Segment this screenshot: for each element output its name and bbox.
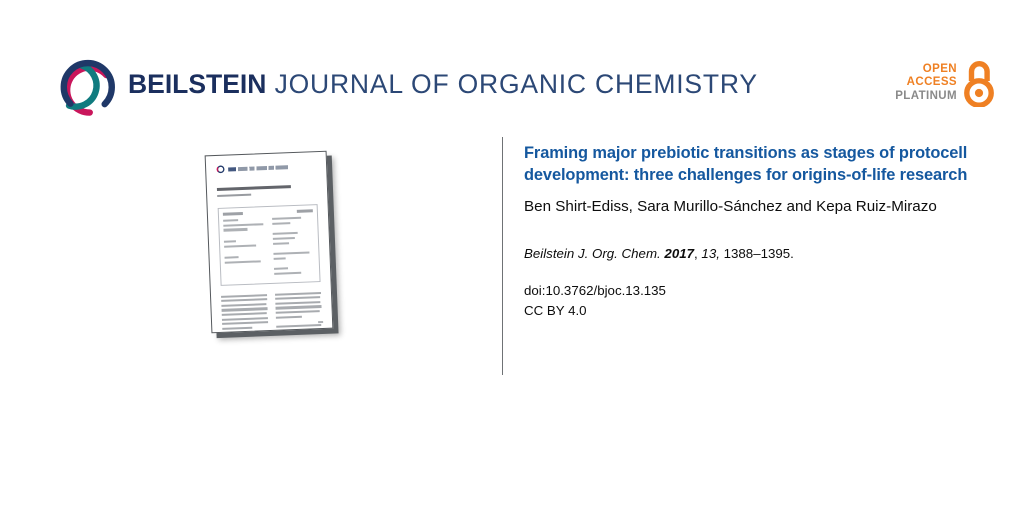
beilstein-circle-logo[interactable] xyxy=(55,58,117,120)
article-authors: Ben Shirt-Ediss, Sara Murillo-Sánchez an… xyxy=(524,196,984,218)
open-access-badge[interactable]: OPEN ACCESS PLATINUM xyxy=(895,59,996,107)
column-divider xyxy=(502,137,503,375)
oa-line-platinum: PLATINUM xyxy=(895,90,957,104)
preview-author-line xyxy=(217,194,251,198)
preview-body-columns xyxy=(221,292,325,334)
preview-column-right xyxy=(274,292,325,334)
journal-masthead: BEILSTEIN JOURNAL OF ORGANIC CHEMISTRY O… xyxy=(0,0,1024,135)
article-title[interactable]: Framing major prebiotic transitions as s… xyxy=(524,143,972,187)
citation-pages: 1388–1395. xyxy=(720,246,794,261)
article-metadata: Framing major prebiotic transitions as s… xyxy=(524,143,984,322)
preview-info-box xyxy=(218,205,321,286)
oa-line-open: OPEN xyxy=(895,63,957,77)
open-access-label: OPEN ACCESS PLATINUM xyxy=(895,63,957,104)
citation-volume: 13, xyxy=(701,246,720,261)
wordmark-subtitle: JOURNAL OF ORGANIC CHEMISTRY xyxy=(266,69,757,99)
preview-masthead xyxy=(216,161,316,174)
wordmark-beilstein: BEILSTEIN xyxy=(128,69,266,99)
preview-logo-icon xyxy=(216,165,225,174)
preview-column-left xyxy=(221,294,272,333)
preview-title-line xyxy=(217,185,291,191)
article-license[interactable]: CC BY 4.0 xyxy=(524,301,984,322)
citation-journal: Beilstein J. Org. Chem. xyxy=(524,246,661,261)
citation-comma: , xyxy=(694,246,698,261)
preview-masthead-text xyxy=(228,164,316,171)
preview-page-number xyxy=(318,321,323,323)
article-doi[interactable]: doi:10.3762/bjoc.13.135 xyxy=(524,281,984,302)
article-first-page-preview xyxy=(205,151,334,334)
journal-wordmark: BEILSTEIN JOURNAL OF ORGANIC CHEMISTRY xyxy=(128,71,758,98)
open-lock-icon xyxy=(962,59,996,107)
oa-line-access: ACCESS xyxy=(895,76,957,90)
citation-year: 2017 xyxy=(664,246,694,261)
article-thumbnail[interactable] xyxy=(200,148,350,346)
article-citation: Beilstein J. Org. Chem. 2017, 13, 1388–1… xyxy=(524,245,984,264)
